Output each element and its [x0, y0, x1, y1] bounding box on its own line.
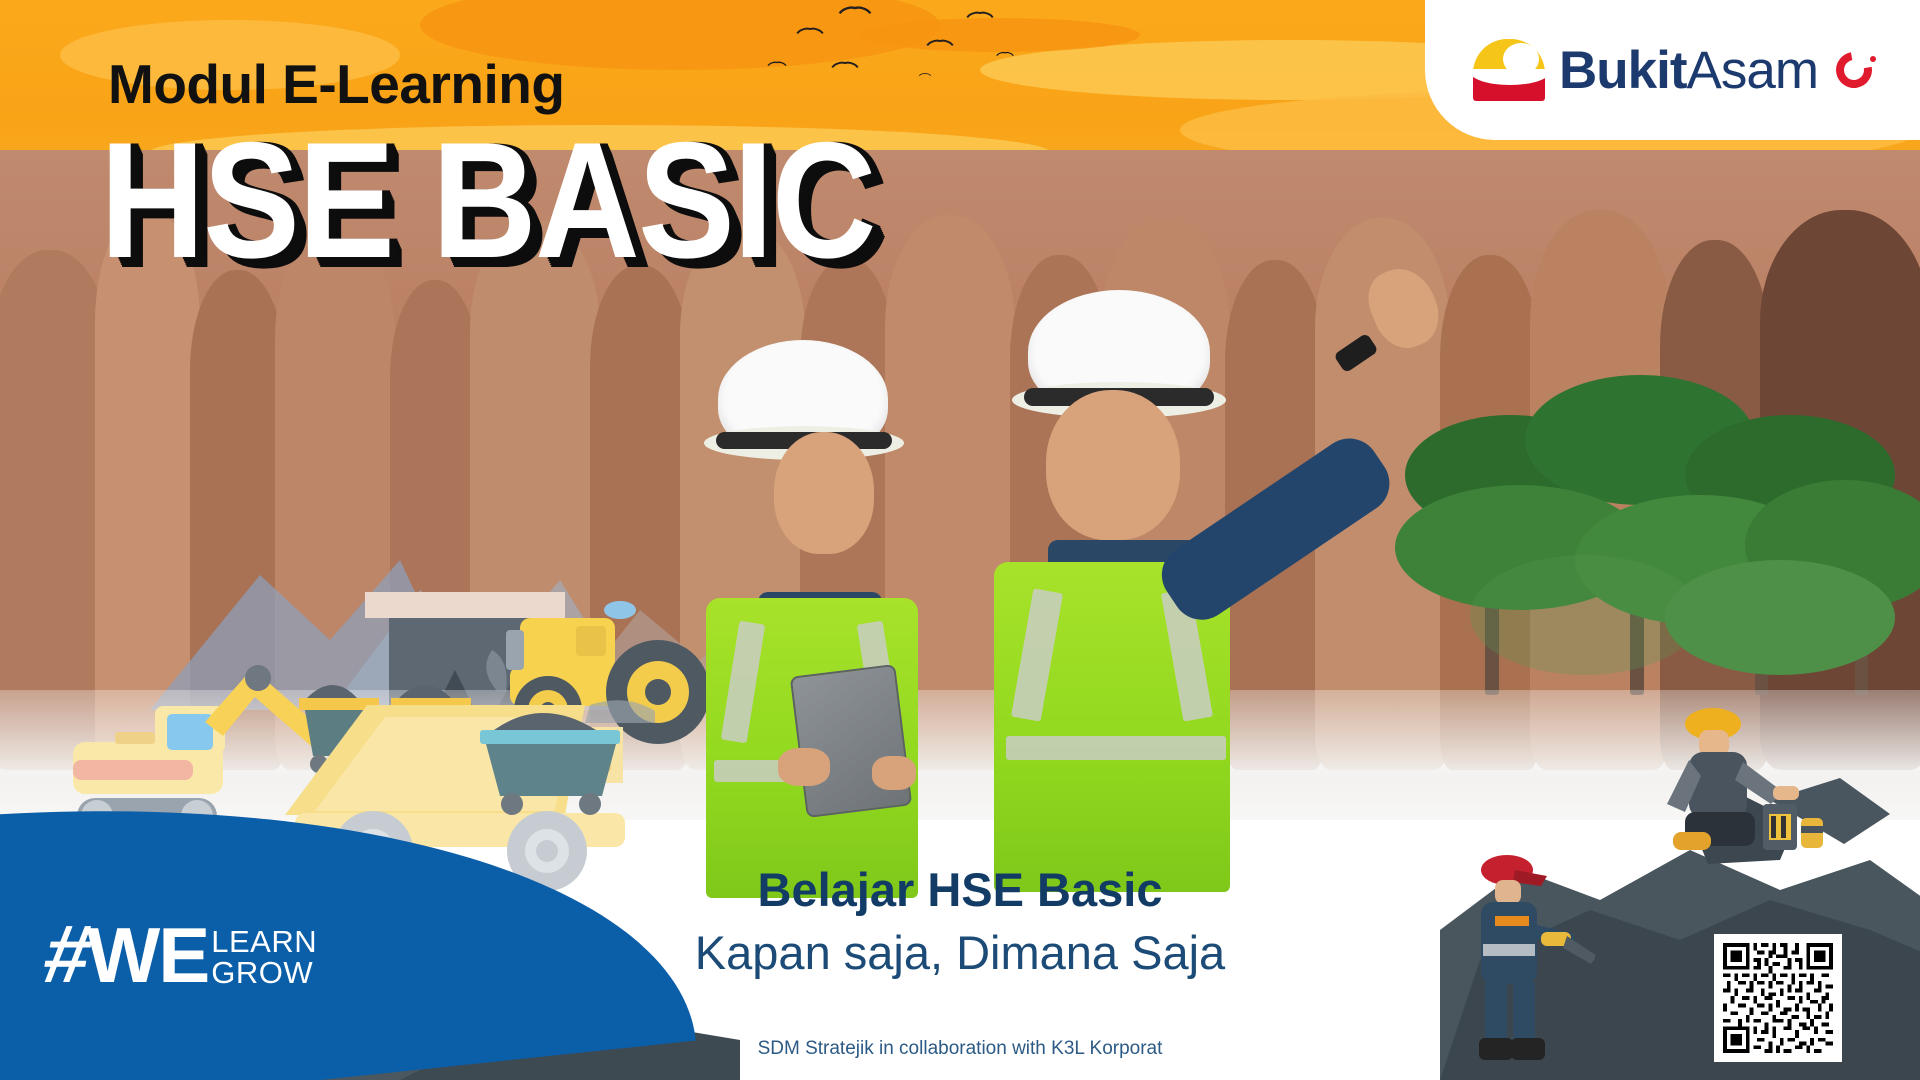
bird-icon — [837, 7, 873, 21]
female-worker-photo — [690, 340, 950, 900]
brand-wordmark: BukitAsam — [1559, 40, 1818, 101]
bukit-asam-sun-wave-mark — [1473, 39, 1545, 101]
red-ring-icon — [1836, 52, 1872, 88]
bird-icon — [795, 28, 825, 40]
bird-icon — [918, 73, 932, 78]
poster-canvas: # WE LEARN GROW Modul E-Learning HSE BAS… — [0, 0, 1920, 1080]
bird-icon — [830, 62, 860, 74]
page-title: HSE BASIC — [100, 118, 875, 283]
tablet-icon — [790, 664, 913, 818]
bird-icon — [767, 62, 788, 70]
qr-code[interactable] — [1714, 934, 1842, 1062]
tree-foliage — [1415, 355, 1915, 685]
brand-name-bold: Bukit — [1559, 41, 1687, 100]
miner-with-detonator-icon — [1655, 700, 1835, 880]
qr-code-icon — [1723, 943, 1833, 1053]
eyebrow-title: Modul E-Learning — [108, 52, 564, 116]
tagline-secondary: Kapan saja, Dimana Saja — [0, 925, 1920, 980]
brand-logo-panel: BukitAsam — [1425, 0, 1920, 140]
bird-icon — [965, 12, 995, 24]
bird-icon — [925, 40, 955, 52]
bird-icon — [995, 52, 1015, 60]
brand-name-light: Asam — [1687, 41, 1818, 100]
credit-line: SDM Stratejik in collaboration with K3L … — [0, 1038, 1920, 1060]
mine-cart-icon — [470, 700, 630, 820]
tagline-primary: Belajar HSE Basic — [0, 862, 1920, 917]
male-worker-photo — [1000, 290, 1320, 910]
